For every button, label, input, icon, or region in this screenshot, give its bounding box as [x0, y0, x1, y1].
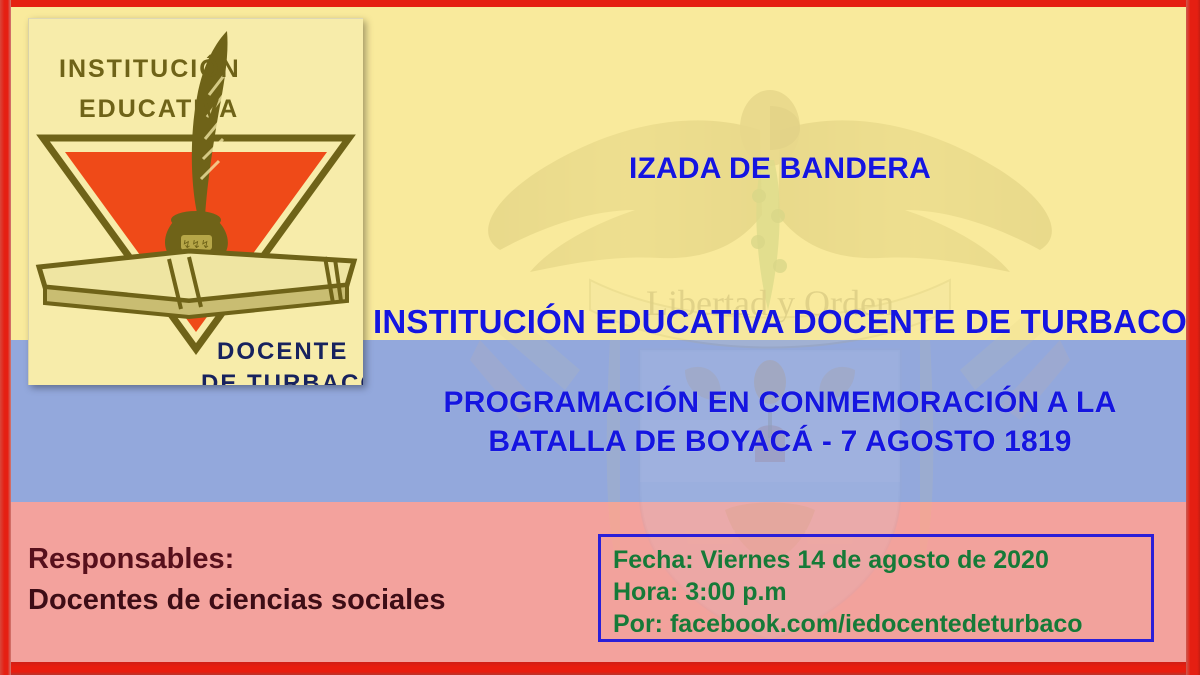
- responsables-block: Responsables: Docentes de ciencias socia…: [28, 539, 568, 621]
- program-line-1: PROGRAMACIÓN EN CONMEMORACIÓN A LA: [380, 383, 1180, 422]
- institution-title: INSTITUCIÓN EDUCATIVA DOCENTE DE TURBACO: [370, 303, 1190, 341]
- logo-line2: EDUCATIVA: [79, 95, 239, 123]
- border-top: [0, 0, 1200, 7]
- event-link[interactable]: Por: facebook.com/iedocentedeturbaco: [613, 608, 1141, 640]
- logo-line1: INSTITUCIÓN: [59, 53, 241, 83]
- poster-canvas: Libertad y Orden: [0, 0, 1200, 675]
- responsables-label: Responsables:: [28, 539, 568, 580]
- event-details-box: Fecha: Viernes 14 de agosto de 2020 Hora…: [598, 534, 1154, 642]
- event-time: Hora: 3:00 p.m: [613, 576, 1141, 608]
- event-title: IZADA DE BANDERA: [380, 152, 1180, 186]
- responsables-value: Docentes de ciencias sociales: [28, 580, 568, 621]
- border-left: [0, 0, 11, 675]
- school-logo: ↯↯↯ INSTITUCIÓN EDUCATIVA DOCENTE DE TUR…: [28, 18, 363, 385]
- logo-line3: DOCENTE: [217, 338, 348, 365]
- event-date: Fecha: Viernes 14 de agosto de 2020: [613, 544, 1141, 576]
- border-bottom: [0, 662, 1200, 675]
- program-line-2: BATALLA DE BOYACÁ - 7 AGOSTO 1819: [380, 422, 1180, 461]
- logo-line4: DE TURBACO: [201, 370, 363, 385]
- border-right: [1186, 0, 1200, 675]
- program-title: PROGRAMACIÓN EN CONMEMORACIÓN A LA BATAL…: [380, 383, 1180, 461]
